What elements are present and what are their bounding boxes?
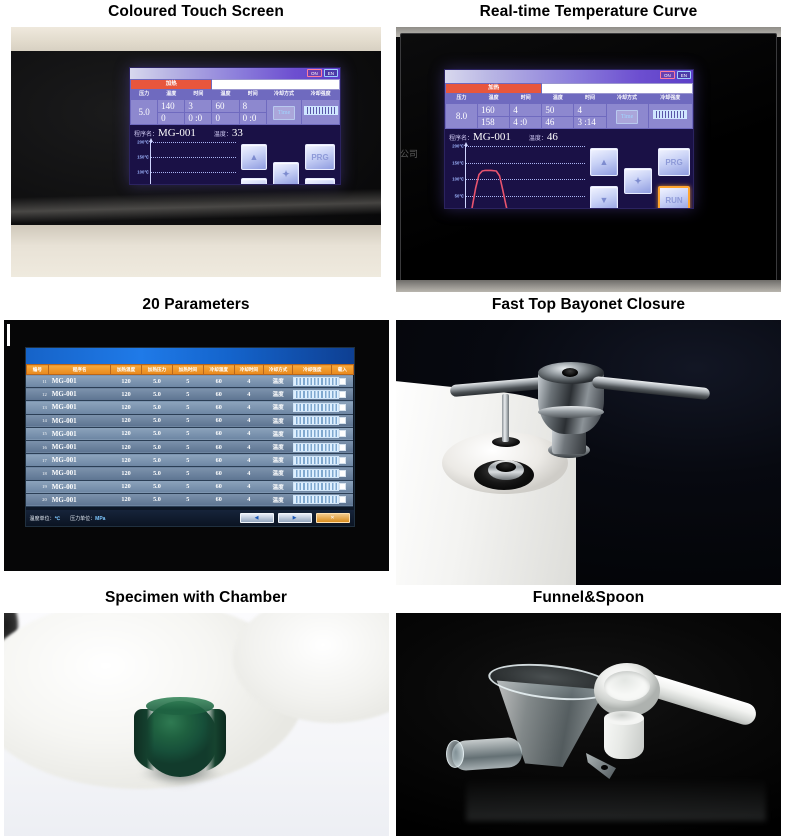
- load-checkbox[interactable]: [339, 430, 346, 437]
- funnel-spout-opening: [446, 740, 464, 768]
- params-cell-heat-time[interactable]: 5: [172, 375, 203, 388]
- params-cell-cool-time[interactable]: 4: [234, 427, 263, 440]
- photo-bayonet-closure: [396, 320, 781, 585]
- small-spoon-bowl-rim: [604, 711, 644, 725]
- hmi-pressure-value[interactable]: 5.0: [131, 100, 158, 125]
- params-cell-cool-temp[interactable]: 60: [203, 388, 234, 401]
- small-spoon-handle: [634, 726, 751, 762]
- params-cell-cool-time[interactable]: 4: [234, 480, 263, 493]
- params-cell-cool-temp[interactable]: 60: [203, 440, 234, 453]
- params-cell-heat-time[interactable]: 5: [172, 493, 203, 506]
- hmi-setpoint-row: 5.0 140 3 60 8 Time: [131, 100, 340, 113]
- params-col-cool-temp: 冷却温度: [203, 365, 234, 375]
- intensity-bars-icon: [293, 443, 339, 452]
- hmi-screen-running[interactable]: ON EN 加热 压力 温度 时间 温度 时间: [444, 69, 694, 209]
- params-cell-cool-temp[interactable]: 60: [203, 414, 234, 427]
- params-cell-index: 15: [26, 427, 49, 440]
- load-checkbox[interactable]: [339, 483, 346, 490]
- params-cell-cool-intensity[interactable]: [293, 388, 332, 401]
- params-table-row[interactable]: 18MG-0011205.05604温度: [26, 467, 353, 480]
- params-table-body: 11MG-0011205.05604温度12MG-0011205.05604温度…: [26, 375, 353, 507]
- params-cell-heat-time[interactable]: 5: [172, 454, 203, 467]
- params-cell-heat-temp[interactable]: 120: [111, 401, 142, 414]
- chart-icon-2: ✦: [634, 177, 642, 186]
- hmi-run-label-2: RUN: [665, 196, 682, 205]
- hmi-setpoint-row-2: 8.0 160 4 50 4 Time: [446, 104, 693, 117]
- load-checkbox[interactable]: [339, 391, 346, 398]
- params-cell-heat-time[interactable]: 5: [172, 427, 203, 440]
- hmi-chart-view-button-2[interactable]: ✦: [624, 168, 652, 194]
- hmi-param-table-running: 加热 压力 温度 时间 温度 时间 冷却方式 冷却强度 8.0 160: [445, 83, 693, 129]
- feature-cell-touch-screen: Coloured Touch Screen ON EN 加热: [0, 0, 392, 292]
- hmi-pressure-value-2[interactable]: 8.0: [446, 104, 478, 129]
- photo-realtime-temperature-curve: 公司 ON EN 加热 压力 温度: [396, 27, 781, 292]
- hmi-heat-time-set-2[interactable]: 4: [510, 104, 542, 117]
- caption-fast-top-bayonet-closure: Fast Top Bayonet Closure: [392, 292, 785, 320]
- params-col-name: 程序名: [49, 365, 111, 375]
- photo-funnel-spoon: [396, 613, 781, 836]
- hmi-prg-label: PRG: [311, 153, 328, 162]
- hmi-on-button-2[interactable]: ON: [660, 71, 675, 79]
- intensity-bars-icon: [293, 429, 339, 438]
- params-cell-name[interactable]: MG-001: [49, 375, 111, 388]
- params-cell-cool-temp[interactable]: 60: [203, 401, 234, 414]
- hmi-col-cool-mode-2: 冷却方式: [606, 94, 648, 104]
- params-footer: 温度单位：℃ 压力单位：MPa ◀ ▶ ✕: [26, 510, 354, 526]
- intensity-bars-icon: [293, 377, 339, 386]
- intensity-bars-icon: [293, 416, 339, 425]
- bayonet-head-port: [562, 368, 578, 377]
- hmi-heat-temp-actual-2: 158: [478, 117, 510, 129]
- hmi-cool-temp-set[interactable]: 60: [212, 100, 239, 113]
- load-checkbox[interactable]: [339, 470, 346, 477]
- params-cell-cool-intensity[interactable]: [293, 375, 332, 388]
- hmi-chart-running: 200℃ 150℃ 100℃ 50℃ 0℃ 0 5 10 15 20: [448, 144, 587, 209]
- feature-cell-temperature-curve: Real-time Temperature Curve 公司 ON EN: [392, 0, 785, 292]
- feature-grid: Coloured Touch Screen ON EN 加热: [0, 0, 785, 836]
- hmi-body-idle: 200℃ 150℃ 100℃ 50℃ 0℃ 0 5 10 15 20: [130, 139, 340, 185]
- hmi-heating-label: 加热: [131, 80, 212, 90]
- y-tick-100-2: 100℃: [452, 177, 464, 182]
- caption-20-parameters: 20 Parameters: [0, 292, 392, 320]
- hmi-heat-time-actual: 0 :0: [185, 113, 212, 125]
- params-col-heat-temp: 加热温度: [111, 365, 142, 375]
- params-cell-cool-time[interactable]: 4: [234, 388, 263, 401]
- funnel-tab-hole: [601, 765, 608, 770]
- hmi-heat-time-actual-2: 4 :0: [510, 117, 542, 129]
- params-screen-titlebar: [26, 348, 354, 364]
- photo-20-parameters: 编号 程序名 加热温度 加热压力 加热时间 冷却温度 冷却时间 冷却方式 冷却强…: [4, 320, 389, 571]
- hmi-chart-idle: 200℃ 150℃ 100℃ 50℃ 0℃ 0 5 10 15 20: [133, 140, 238, 185]
- params-cell-cool-intensity[interactable]: [293, 440, 332, 453]
- hmi-temp-label-2: 温度：: [529, 136, 547, 142]
- params-col-cool-intensity: 冷却强度: [293, 365, 332, 375]
- temp-unit-value: ℃: [55, 516, 61, 522]
- hmi-lang-button[interactable]: EN: [324, 69, 338, 77]
- hmi-header-row: 压力 温度 时间 温度 时间 冷却方式 冷却强度: [131, 90, 340, 100]
- photo-coloured-touch-screen: ON EN 加热 压力 温度 时间 温度 时间: [11, 27, 381, 277]
- params-cell-cool-mode[interactable]: 温度: [263, 480, 292, 493]
- temp-unit-label: 温度单位：: [30, 516, 55, 522]
- params-next-button[interactable]: ▶: [278, 513, 312, 523]
- params-cell-cool-mode[interactable]: 温度: [263, 427, 292, 440]
- hmi-cool-intensity-gauge[interactable]: [302, 100, 340, 125]
- hmi-col-heat-temp: 温度: [158, 90, 185, 100]
- feature-cell-specimen-chamber: Specimen with Chamber: [0, 585, 392, 836]
- params-col-heat-press: 加热压力: [141, 365, 172, 375]
- specimen-scene: [4, 613, 389, 836]
- params-cell-heat-press[interactable]: 5.0: [141, 480, 172, 493]
- load-checkbox[interactable]: [339, 378, 346, 385]
- chevron-up-icon: ▲: [250, 153, 259, 162]
- hmi-heat-time-set[interactable]: 3: [185, 100, 212, 113]
- hmi-current-temp: 33: [232, 127, 243, 139]
- params-cell-cool-mode[interactable]: 温度: [263, 388, 292, 401]
- params-cell-heat-temp[interactable]: 120: [111, 375, 142, 388]
- params-cell-cool-time[interactable]: 4: [234, 454, 263, 467]
- hmi-col-cool-temp-2: 温度: [542, 94, 574, 104]
- hmi-prg-label-2: PRG: [665, 158, 682, 167]
- params-cell-cool-time[interactable]: 4: [234, 440, 263, 453]
- hmi-cool-time-set[interactable]: 8: [239, 100, 266, 113]
- params-col-cool-time: 冷却时间: [234, 365, 263, 375]
- params-cell-index: 16: [26, 440, 49, 453]
- params-cell-index: 20: [26, 493, 49, 506]
- hmi-button-pad-running: ▲ ▼ ✦ PRG RUN: [590, 144, 690, 209]
- load-checkbox[interactable]: [339, 444, 346, 451]
- hmi-cool-time-actual-2: 3 :14: [574, 117, 606, 129]
- funnel-scene: [396, 613, 781, 836]
- params-cell-heat-press[interactable]: 5.0: [141, 440, 172, 453]
- hmi-col-cool-time: 时间: [239, 90, 266, 100]
- hmi-col-cool-mode: 冷却方式: [266, 90, 302, 100]
- params-col-heat-time: 加热时间: [172, 365, 203, 375]
- y-tick-150-2: 150℃: [452, 160, 464, 165]
- params-cell-cool-time[interactable]: 4: [234, 375, 263, 388]
- params-cell-heat-press[interactable]: 5.0: [141, 427, 172, 440]
- chevron-down-icon-2: ▼: [600, 196, 609, 205]
- params-cell-heat-time[interactable]: 5: [172, 480, 203, 493]
- intensity-bars-icon-2: [653, 110, 687, 119]
- hmi-up-button-2[interactable]: ▲: [590, 148, 618, 176]
- hmi-button-pad-idle: ▲ ▼ ✦ PRG RUN: [241, 140, 337, 185]
- params-cell-cool-temp[interactable]: 60: [203, 454, 234, 467]
- hmi-info-line: 程序名：MG-001 温度：33: [130, 125, 340, 139]
- hmi-on-button[interactable]: ON: [307, 69, 322, 77]
- params-cell-name[interactable]: MG-001: [49, 427, 111, 440]
- params-cell-cool-mode[interactable]: 温度: [263, 454, 292, 467]
- load-checkbox[interactable]: [339, 496, 346, 503]
- hmi-col-cool-temp: 温度: [212, 90, 239, 100]
- params-table-row[interactable]: 11MG-0011205.05604温度: [26, 375, 353, 388]
- params-cell-index: 12: [26, 388, 49, 401]
- intensity-bars-icon: [293, 482, 339, 491]
- params-cell-cool-temp[interactable]: 60: [203, 480, 234, 493]
- params-cell-cool-intensity[interactable]: [293, 493, 332, 506]
- params-cell-name[interactable]: MG-001: [49, 454, 111, 467]
- params-cell-name[interactable]: MG-001: [49, 401, 111, 414]
- press-unit-readout: 压力单位：MPa: [70, 515, 105, 522]
- hmi-cool-mode-value-2: Time: [616, 110, 638, 124]
- hmi-cool-mode-value: Time: [273, 106, 295, 120]
- feature-cell-funnel-spoon: Funnel&Spoon: [392, 585, 785, 836]
- hmi-prg-button[interactable]: PRG: [305, 144, 335, 170]
- params-cell-index: 11: [26, 375, 49, 388]
- hmi-cooling-label-blank: [212, 80, 340, 90]
- intensity-bars-icon: [293, 403, 339, 412]
- hmi-param-table-idle: 加热 压力 温度 时间 温度 时间 冷却方式 冷却强度 5.0 140: [130, 79, 340, 125]
- params-cell-cool-time[interactable]: 4: [234, 467, 263, 480]
- hmi-heat-temp-set[interactable]: 140: [158, 100, 185, 113]
- hmi-section-row: 加热: [131, 80, 340, 90]
- params-table-row[interactable]: 19MG-0011205.05604温度: [26, 480, 353, 493]
- hmi-titlebar: ON EN: [130, 68, 340, 79]
- intensity-bars-icon: [293, 456, 339, 465]
- hmi-titlebar-buttons-2: ON EN: [660, 71, 691, 79]
- hmi-program-name: MG-001: [158, 127, 196, 139]
- params-cell-heat-press[interactable]: 5.0: [141, 375, 172, 388]
- hmi-col-pressure-2: 压力: [446, 94, 478, 104]
- hmi-heat-temp-actual: 0: [158, 113, 185, 125]
- params-cell-heat-press[interactable]: 5.0: [141, 454, 172, 467]
- params-cell-heat-temp[interactable]: 120: [111, 427, 142, 440]
- load-checkbox[interactable]: [339, 417, 346, 424]
- intensity-bars-icon: [293, 390, 339, 399]
- photo-watermark: 公司: [400, 147, 418, 160]
- hmi-screen-idle[interactable]: ON EN 加热 压力 温度 时间 温度 时间: [129, 67, 341, 185]
- hmi-heating-label-2: 加热: [446, 84, 542, 94]
- hmi-cool-intensity-gauge-2[interactable]: [648, 104, 692, 129]
- params-table-row[interactable]: 15MG-0011205.05604温度: [26, 427, 353, 440]
- hmi-lang-button-2[interactable]: EN: [677, 71, 691, 79]
- params-cell-cool-time[interactable]: 4: [234, 493, 263, 506]
- hmi-run-button-2[interactable]: RUN: [658, 186, 690, 209]
- hmi-header-row-2: 压力 温度 时间 温度 时间 冷却方式 冷却强度: [446, 94, 693, 104]
- bayonet-scene: [396, 320, 781, 585]
- params-cell-heat-temp[interactable]: 120: [111, 414, 142, 427]
- press-unit-label: 压力单位：: [70, 516, 95, 522]
- params-cell-heat-time[interactable]: 5: [172, 414, 203, 427]
- chart-icon: ✦: [282, 170, 290, 179]
- params-cell-heat-press[interactable]: 5.0: [141, 401, 172, 414]
- intensity-bars-icon: [293, 495, 339, 504]
- hmi-col-heat-temp-2: 温度: [478, 94, 510, 104]
- params-cell-name[interactable]: MG-001: [49, 480, 111, 493]
- params-cell-name[interactable]: MG-001: [49, 388, 111, 401]
- feature-cell-bayonet-closure: Fast Top Bayonet Closure: [392, 292, 785, 585]
- params-table-row[interactable]: 12MG-0011205.05604温度: [26, 388, 353, 401]
- params-cell-index: 17: [26, 454, 49, 467]
- frame-bottom-strip: [396, 280, 781, 292]
- params-cell-heat-press[interactable]: 5.0: [141, 493, 172, 506]
- press-unit-value: MPa: [95, 516, 105, 522]
- chart-plot-area-2: 200℃ 150℃ 100℃ 50℃ 0℃ 0 5 10 15 20: [465, 146, 585, 209]
- params-cell-cool-mode[interactable]: 温度: [263, 440, 292, 453]
- params-screen[interactable]: 编号 程序名 加热温度 加热压力 加热时间 冷却温度 冷却时间 冷却方式 冷却强…: [25, 347, 355, 527]
- hmi-body-running: 200℃ 150℃ 100℃ 50℃ 0℃ 0 5 10 15 20: [445, 143, 693, 209]
- hmi-chart-view-button[interactable]: ✦: [273, 162, 299, 185]
- hmi-cooling-label-blank-2: [542, 84, 693, 94]
- hmi-heat-temp-set-2[interactable]: 160: [478, 104, 510, 117]
- params-table-row[interactable]: 14MG-0011205.05604温度: [26, 414, 353, 427]
- params-table-row[interactable]: 13MG-0011205.05604温度: [26, 401, 353, 414]
- hmi-col-heat-time: 时间: [185, 90, 212, 100]
- temp-unit-readout: 温度单位：℃: [30, 515, 61, 522]
- load-checkbox[interactable]: [339, 404, 346, 411]
- params-cell-heat-time[interactable]: 5: [172, 467, 203, 480]
- chamber-opening: [496, 462, 516, 472]
- params-table-row[interactable]: 17MG-0011205.05604温度: [26, 454, 353, 467]
- temperature-curve-line: [466, 146, 585, 209]
- params-cell-cool-intensity[interactable]: [293, 454, 332, 467]
- hmi-program-name-2: MG-001: [473, 131, 511, 143]
- y-tick-200-2: 200℃: [452, 144, 464, 149]
- frame-edge-highlight: [7, 324, 10, 346]
- params-cell-cool-mode[interactable]: 温度: [263, 493, 292, 506]
- params-col-load: 载入: [332, 365, 353, 375]
- hmi-col-cool-time-2: 时间: [574, 94, 606, 104]
- params-cell-name[interactable]: MG-001: [49, 440, 111, 453]
- params-cell-heat-temp[interactable]: 120: [111, 440, 142, 453]
- specimen-puck-lip: [146, 697, 214, 715]
- hmi-cool-time-actual: 0 :0: [239, 113, 266, 125]
- specimen-puck-side: [134, 709, 226, 775]
- params-cell-cool-intensity[interactable]: [293, 427, 332, 440]
- caption-funnel-and-spoon: Funnel&Spoon: [392, 585, 785, 613]
- y-tick-200: 200℃: [137, 140, 149, 145]
- params-cell-name[interactable]: MG-001: [49, 414, 111, 427]
- caption-realtime-temperature-curve: Real-time Temperature Curve: [392, 0, 785, 27]
- hmi-cool-temp-set-2[interactable]: 50: [542, 104, 574, 117]
- chart-plot-area: 200℃ 150℃ 100℃ 50℃ 0℃ 0 5 10 15 20: [150, 142, 236, 185]
- params-table-row[interactable]: 16MG-0011205.05604温度: [26, 440, 353, 453]
- hmi-current-temp-2: 46: [547, 131, 558, 143]
- chevron-up-icon-2: ▲: [600, 158, 609, 167]
- params-cell-heat-temp[interactable]: 120: [111, 480, 142, 493]
- y-tick-50: 50℃: [140, 185, 149, 186]
- params-col-cool-mode: 冷却方式: [263, 365, 292, 375]
- params-cell-name[interactable]: MG-001: [49, 493, 111, 506]
- hmi-col-heat-time-2: 时间: [510, 94, 542, 104]
- params-cell-heat-temp[interactable]: 120: [111, 467, 142, 480]
- params-col-index: 编号: [26, 365, 49, 375]
- machine-body-top: [11, 27, 381, 51]
- hmi-cool-temp-actual: 0: [212, 113, 239, 125]
- params-cell-heat-time[interactable]: 5: [172, 401, 203, 414]
- params-close-button[interactable]: ✕: [316, 513, 350, 523]
- hmi-program-label-2: 程序名：: [449, 136, 473, 142]
- params-prev-button[interactable]: ◀: [240, 513, 274, 523]
- hmi-down-button[interactable]: ▼: [241, 178, 267, 185]
- hmi-up-button[interactable]: ▲: [241, 144, 267, 170]
- params-cell-cool-mode[interactable]: 温度: [263, 414, 292, 427]
- surface-reflection: [466, 765, 766, 821]
- hmi-titlebar-buttons: ON EN: [307, 69, 338, 77]
- params-cell-index: 18: [26, 467, 49, 480]
- hmi-cool-mode-button[interactable]: Time: [266, 100, 302, 125]
- hmi-col-cool-intensity-2: 冷却强度: [648, 94, 692, 104]
- params-cell-index: 19: [26, 480, 49, 493]
- photo-specimen-chamber: [4, 613, 389, 836]
- params-cell-heat-press[interactable]: 5.0: [141, 467, 172, 480]
- params-cell-cool-mode[interactable]: 温度: [263, 401, 292, 414]
- hmi-cool-temp-actual-2: 46: [542, 117, 574, 129]
- product-feature-sheet: Coloured Touch Screen ON EN 加热: [0, 0, 785, 836]
- large-spoon-bowl-interior: [604, 671, 650, 701]
- large-spoon-handle: [641, 673, 758, 728]
- params-cell-heat-temp[interactable]: 120: [111, 454, 142, 467]
- hmi-col-pressure: 压力: [131, 90, 158, 100]
- params-cell-cool-intensity[interactable]: [293, 480, 332, 493]
- hmi-program-label: 程序名：: [134, 132, 158, 138]
- params-table: 编号 程序名 加热温度 加热压力 加热时间 冷却温度 冷却时间 冷却方式 冷却强…: [26, 364, 354, 507]
- params-cell-cool-intensity[interactable]: [293, 401, 332, 414]
- params-table-row[interactable]: 20MG-0011205.05604温度: [26, 493, 353, 506]
- machine-body-bottom: [11, 225, 381, 277]
- caption-specimen-with-chamber: Specimen with Chamber: [0, 585, 392, 613]
- load-checkbox[interactable]: [339, 457, 346, 464]
- params-nav-buttons: ◀ ▶ ✕: [240, 513, 350, 523]
- params-cell-cool-intensity[interactable]: [293, 414, 332, 427]
- params-cell-heat-time[interactable]: 5: [172, 440, 203, 453]
- params-cell-heat-time[interactable]: 5: [172, 388, 203, 401]
- params-cell-cool-mode[interactable]: 温度: [263, 467, 292, 480]
- y-tick-150: 150℃: [137, 155, 149, 160]
- params-cell-cool-temp[interactable]: 60: [203, 427, 234, 440]
- params-cell-heat-temp[interactable]: 120: [111, 493, 142, 506]
- hmi-info-line-2: 程序名：MG-001 温度：46: [445, 129, 693, 143]
- intensity-bars-icon: [293, 469, 339, 478]
- params-cell-cool-temp[interactable]: 60: [203, 375, 234, 388]
- params-cell-index: 14: [26, 414, 49, 427]
- params-cell-cool-temp[interactable]: 60: [203, 493, 234, 506]
- t-handle-right: [592, 376, 711, 400]
- params-cell-name[interactable]: MG-001: [49, 467, 111, 480]
- hmi-titlebar-2: ON EN: [445, 70, 693, 83]
- hmi-prg-button-2[interactable]: PRG: [658, 148, 690, 176]
- handle-stem: [502, 394, 509, 442]
- params-cell-index: 13: [26, 401, 49, 414]
- params-cell-heat-press[interactable]: 5.0: [141, 388, 172, 401]
- params-cell-cool-time[interactable]: 4: [234, 414, 263, 427]
- hmi-cool-mode-button-2[interactable]: Time: [606, 104, 648, 129]
- y-tick-100: 100℃: [137, 170, 149, 175]
- caption-coloured-touch-screen: Coloured Touch Screen: [0, 0, 392, 27]
- params-cell-cool-time[interactable]: 4: [234, 401, 263, 414]
- params-cell-cool-intensity[interactable]: [293, 467, 332, 480]
- feature-cell-20-parameters: 20 Parameters 编号 程序名 加热温度 加热压力: [0, 292, 392, 585]
- y-tick-50-2: 50℃: [455, 193, 464, 198]
- hmi-section-row-2: 加热: [446, 84, 693, 94]
- hmi-down-button-2[interactable]: ▼: [590, 186, 618, 209]
- params-header-row: 编号 程序名 加热温度 加热压力 加热时间 冷却温度 冷却时间 冷却方式 冷却强…: [26, 365, 353, 375]
- hmi-run-button[interactable]: RUN: [305, 178, 335, 185]
- hmi-col-cool-intensity: 冷却强度: [302, 90, 340, 100]
- hmi-temp-label: 温度：: [214, 132, 232, 138]
- intensity-bars-icon: [304, 106, 338, 115]
- params-cell-cool-mode[interactable]: 温度: [263, 375, 292, 388]
- params-cell-cool-temp[interactable]: 60: [203, 467, 234, 480]
- bayonet-head-ring: [538, 406, 604, 418]
- params-cell-heat-press[interactable]: 5.0: [141, 414, 172, 427]
- hmi-cool-time-set-2[interactable]: 4: [574, 104, 606, 117]
- params-cell-heat-temp[interactable]: 120: [111, 388, 142, 401]
